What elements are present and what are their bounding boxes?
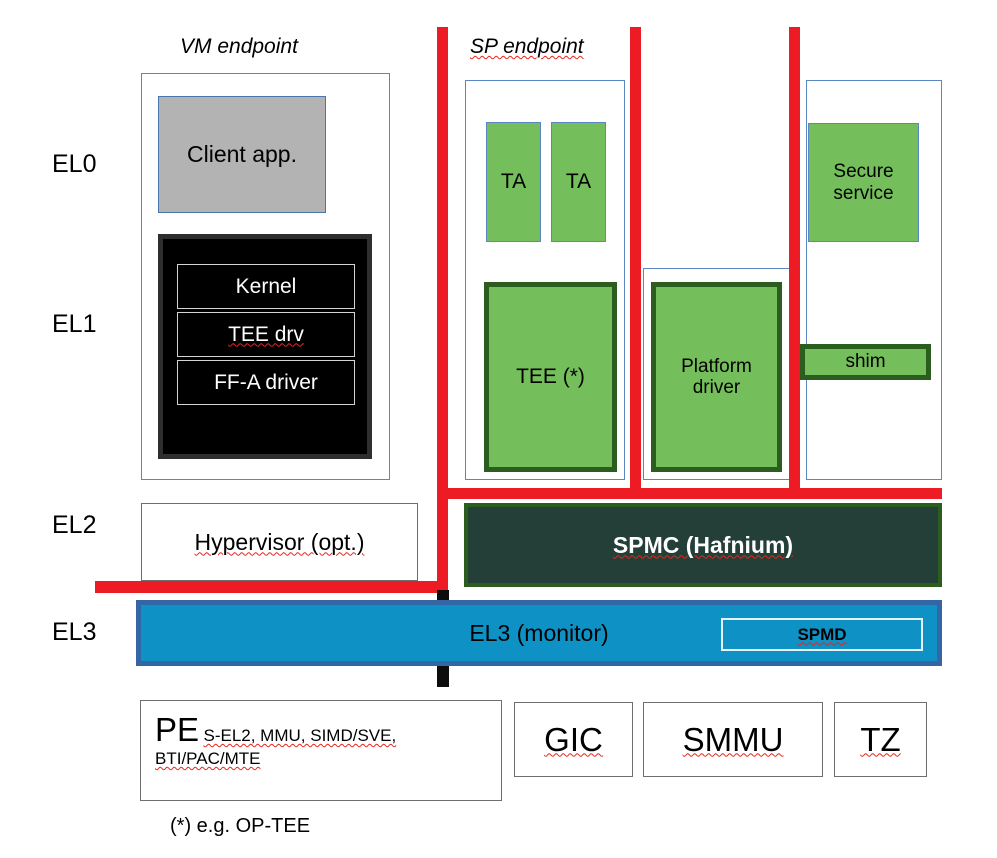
spmc-label: SPMC (Hafnium) (613, 532, 793, 559)
ffa-driver-label: FF-A driver (214, 371, 318, 395)
client-app-label: Client app. (187, 141, 297, 168)
tee-box: TEE (*) (484, 282, 617, 472)
ta-label-2: TA (566, 170, 591, 194)
tee-label: TEE (*) (516, 365, 585, 389)
tee-drv-box: TEE drv (177, 312, 355, 357)
gic-label: GIC (544, 721, 603, 759)
ta-label-1: TA (501, 170, 526, 194)
shim-label: shim (845, 351, 885, 372)
el3-monitor-box: EL3 (monitor) SPMD (136, 600, 942, 666)
tz-box: TZ (834, 702, 927, 777)
tz-label: TZ (860, 721, 900, 759)
secure-service-box: Secure service (808, 123, 919, 242)
secure-service-label-line2: service (833, 183, 893, 204)
row-label-el2: EL2 (52, 511, 96, 540)
ta-box-2: TA (551, 122, 606, 242)
shim-box: shim (800, 344, 931, 380)
row-label-el3: EL3 (52, 618, 96, 647)
kernel-box: Kernel (177, 264, 355, 309)
gic-box: GIC (514, 702, 633, 777)
el3-monitor-label: EL3 (monitor) (469, 620, 608, 647)
platform-driver-label-line1: Platform (681, 356, 752, 377)
hypervisor-label: Hypervisor (opt.) (195, 529, 365, 556)
pe-box: PE S-EL2, MMU, SIMD/SVE, BTI/PAC/MTE (140, 700, 502, 801)
spmc-box: SPMC (Hafnium) (464, 503, 942, 587)
row-label-el0: EL0 (52, 150, 96, 179)
vm-kernel-stack: Kernel TEE drv FF-A driver (158, 234, 372, 459)
caption-sp-endpoint: SP endpoint (470, 35, 584, 59)
red-boundary-vertical-1 (437, 27, 448, 593)
connector-nub-lower (437, 665, 449, 687)
secure-service-label-line1: Secure (833, 161, 893, 182)
ffa-driver-box: FF-A driver (177, 360, 355, 405)
client-app-box: Client app. (158, 96, 326, 213)
platform-driver-label-line2: driver (693, 377, 741, 398)
pe-features-line2: BTI/PAC/MTE (155, 749, 260, 768)
hypervisor-box: Hypervisor (opt.) (141, 503, 418, 581)
pe-features-line1: S-EL2, MMU, SIMD/SVE, (203, 726, 396, 745)
platform-driver-box: Platform driver (651, 282, 782, 472)
red-boundary-horizontal-upper (437, 488, 942, 499)
red-boundary-horizontal-lower (95, 581, 448, 593)
diagram-canvas: EL0 EL1 EL2 EL3 VM endpoint SP endpoint … (0, 0, 997, 858)
red-boundary-vertical-3 (789, 27, 800, 498)
pe-label: PE (155, 711, 199, 748)
caption-vm-endpoint: VM endpoint (180, 35, 298, 59)
row-label-el1: EL1 (52, 310, 96, 339)
red-boundary-vertical-2 (630, 27, 641, 498)
smmu-label: SMMU (683, 721, 784, 759)
tee-drv-label: TEE drv (228, 323, 304, 347)
footnote: (*) e.g. OP-TEE (170, 815, 310, 838)
spmd-box: SPMD (721, 618, 923, 651)
ta-box-1: TA (486, 122, 541, 242)
spmd-label: SPMD (797, 625, 846, 645)
kernel-label: Kernel (236, 275, 297, 299)
smmu-box: SMMU (643, 702, 823, 777)
